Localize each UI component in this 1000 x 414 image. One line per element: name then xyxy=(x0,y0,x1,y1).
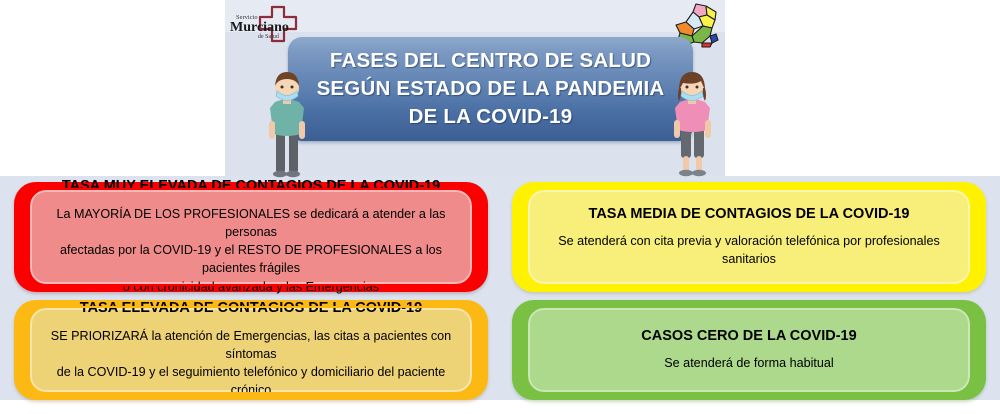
card-body-line: de la COVID-19 y el seguimiento telefóni… xyxy=(46,363,456,400)
svg-text:de Salud: de Salud xyxy=(258,34,279,40)
title-line-1: FASES DEL CENTRO DE SALUD xyxy=(330,47,651,75)
card-title: TASA ELEVADA DE CONTAGIOS DE LA COVID-19 xyxy=(80,300,422,317)
title-line-2: SEGÚN ESTADO DE LA PANDEMIA xyxy=(317,75,665,103)
card-title: TASA MEDIA DE CONTAGIOS DE LA COVID-19 xyxy=(589,206,910,223)
card-body: SE PRIORIZARÁ la atención de Emergencias… xyxy=(46,327,456,400)
card-casos-cero[interactable]: CASOS CERO DE LA COVID-19 Se atenderá de… xyxy=(512,300,986,400)
card-body: La MAYORÍA DE LOS PROFESIONALES se dedic… xyxy=(46,205,456,296)
card-body-line: La MAYORÍA DE LOS PROFESIONALES se dedic… xyxy=(46,205,456,242)
card-body-line: SE PRIORIZARÁ la atención de Emergencias… xyxy=(46,327,456,364)
card-title: TASA MUY ELEVADA DE CONTAGIOS DE LA COVI… xyxy=(62,178,440,195)
infographic-root: Servicio Murciano de Salud FASES DEL CEN… xyxy=(0,0,1000,414)
card-body: Se atenderá con cita previa y valoración… xyxy=(544,232,954,269)
card-tasa-muy-elevada[interactable]: TASA MUY ELEVADA DE CONTAGIOS DE LA COVI… xyxy=(14,182,488,292)
female-figure-with-mask xyxy=(660,66,724,178)
svg-text:Murciano: Murciano xyxy=(230,20,289,35)
card-body-line: o con cronicidad avanzada y las Emergenc… xyxy=(46,278,456,296)
card-title: CASOS CERO DE LA COVID-19 xyxy=(641,328,856,345)
card-inner: CASOS CERO DE LA COVID-19 Se atenderá de… xyxy=(528,308,970,392)
card-body: Se atenderá de forma habitual xyxy=(664,354,833,372)
title-banner: FASES DEL CENTRO DE SALUD SEGÚN ESTADO D… xyxy=(288,37,693,141)
title-line-3: DE LA COVID-19 xyxy=(409,103,573,131)
card-inner: TASA MEDIA DE CONTAGIOS DE LA COVID-19 S… xyxy=(528,190,970,284)
male-figure-with-mask xyxy=(256,66,318,178)
card-body-line: Se atenderá con cita previa y valoración… xyxy=(544,232,954,269)
card-inner: TASA MUY ELEVADA DE CONTAGIOS DE LA COVI… xyxy=(30,190,472,284)
card-body-line: afectadas por la COVID-19 y el RESTO DE … xyxy=(46,241,456,278)
card-tasa-elevada[interactable]: TASA ELEVADA DE CONTAGIOS DE LA COVID-19… xyxy=(14,300,488,400)
card-tasa-media[interactable]: TASA MEDIA DE CONTAGIOS DE LA COVID-19 S… xyxy=(512,182,986,292)
card-body-line: Se atenderá de forma habitual xyxy=(664,354,833,372)
card-inner: TASA ELEVADA DE CONTAGIOS DE LA COVID-19… xyxy=(30,308,472,392)
